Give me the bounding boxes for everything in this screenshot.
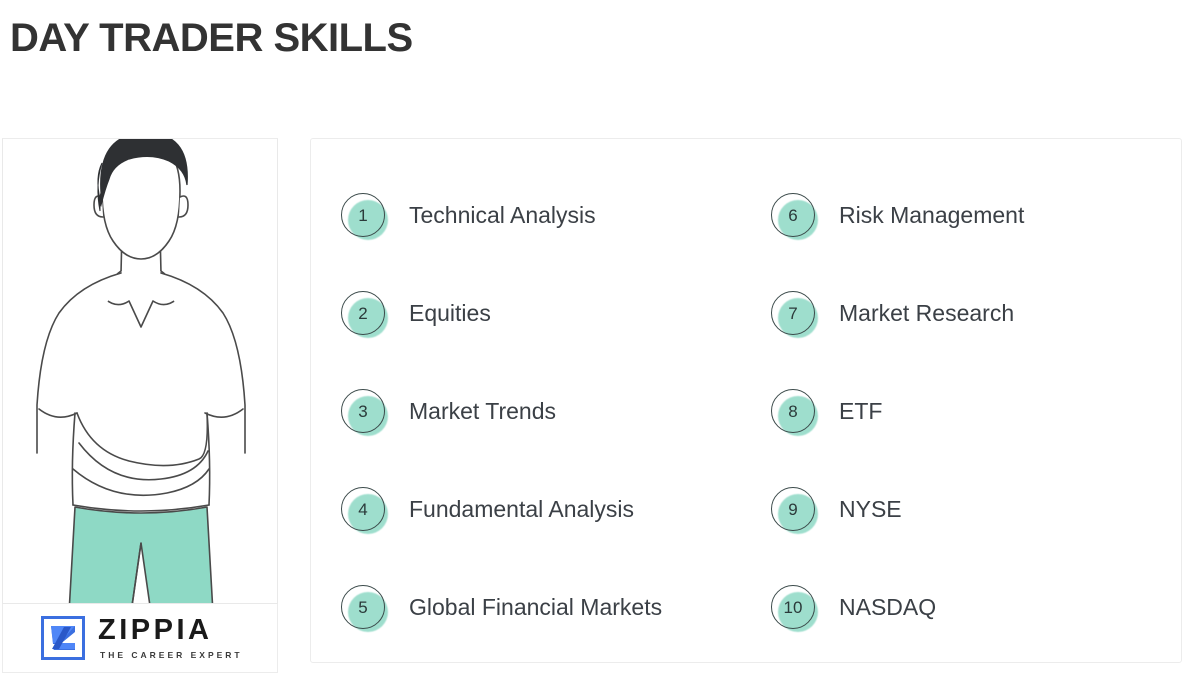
number-badge: 4 [341,487,387,533]
badge-number: 3 [358,403,367,420]
logo-tagline: THE CAREER EXPERT [100,651,243,660]
badge-ring-circle: 1 [341,193,385,237]
skill-item-9: 9 NYSE [771,461,1181,559]
badge-number: 9 [788,501,797,518]
skill-label: Market Trends [409,398,556,426]
number-badge: 10 [771,585,817,631]
badge-number: 2 [358,305,367,322]
skill-label: NASDAQ [839,594,936,622]
skill-item-1: 1 Technical Analysis [341,167,771,265]
logo-wordmark: ZIPPIA [98,616,243,645]
skill-item-8: 8 ETF [771,363,1181,461]
badge-ring-circle: 9 [771,487,815,531]
pants-shape [69,507,213,604]
badge-ring-circle: 2 [341,291,385,335]
number-badge: 1 [341,193,387,239]
skill-item-5: 5 Global Financial Markets [341,559,771,657]
zippia-logo: ZIPPIA THE CAREER EXPERT [2,604,278,673]
skills-panel: 1 Technical Analysis 6 Risk Management 2… [310,138,1182,663]
skill-item-10: 10 NASDAQ [771,559,1181,657]
skill-label: Risk Management [839,202,1024,230]
badge-number: 7 [788,305,797,322]
badge-ring-circle: 4 [341,487,385,531]
badge-number: 5 [358,599,367,616]
person-illustration [2,138,278,604]
zippia-z-mark-icon [41,616,85,660]
number-badge: 5 [341,585,387,631]
skill-item-4: 4 Fundamental Analysis [341,461,771,559]
skill-label: Market Research [839,300,1014,328]
number-badge: 6 [771,193,817,239]
badge-ring-circle: 8 [771,389,815,433]
skill-label: Global Financial Markets [409,594,662,622]
badge-ring-circle: 6 [771,193,815,237]
badge-ring-circle: 5 [341,585,385,629]
badge-number: 10 [784,599,803,616]
skill-label: Fundamental Analysis [409,496,634,524]
badge-number: 4 [358,501,367,518]
skill-label: NYSE [839,496,902,524]
skill-label: Technical Analysis [409,202,596,230]
badge-number: 8 [788,403,797,420]
skill-item-6: 6 Risk Management [771,167,1181,265]
skills-grid: 1 Technical Analysis 6 Risk Management 2… [311,139,1181,662]
skill-label: ETF [839,398,882,426]
number-badge: 9 [771,487,817,533]
badge-ring-circle: 7 [771,291,815,335]
number-badge: 7 [771,291,817,337]
skill-label: Equities [409,300,491,328]
badge-ring-circle: 3 [341,389,385,433]
number-badge: 8 [771,389,817,435]
skill-item-3: 3 Market Trends [341,363,771,461]
number-badge: 2 [341,291,387,337]
illustration-panel [2,138,278,604]
badge-number: 6 [788,207,797,224]
number-badge: 3 [341,389,387,435]
badge-ring-circle: 10 [771,585,815,629]
page-title: DAY TRADER SKILLS [10,14,413,62]
skill-item-7: 7 Market Research [771,265,1181,363]
badge-number: 1 [358,207,367,224]
skill-item-2: 2 Equities [341,265,771,363]
